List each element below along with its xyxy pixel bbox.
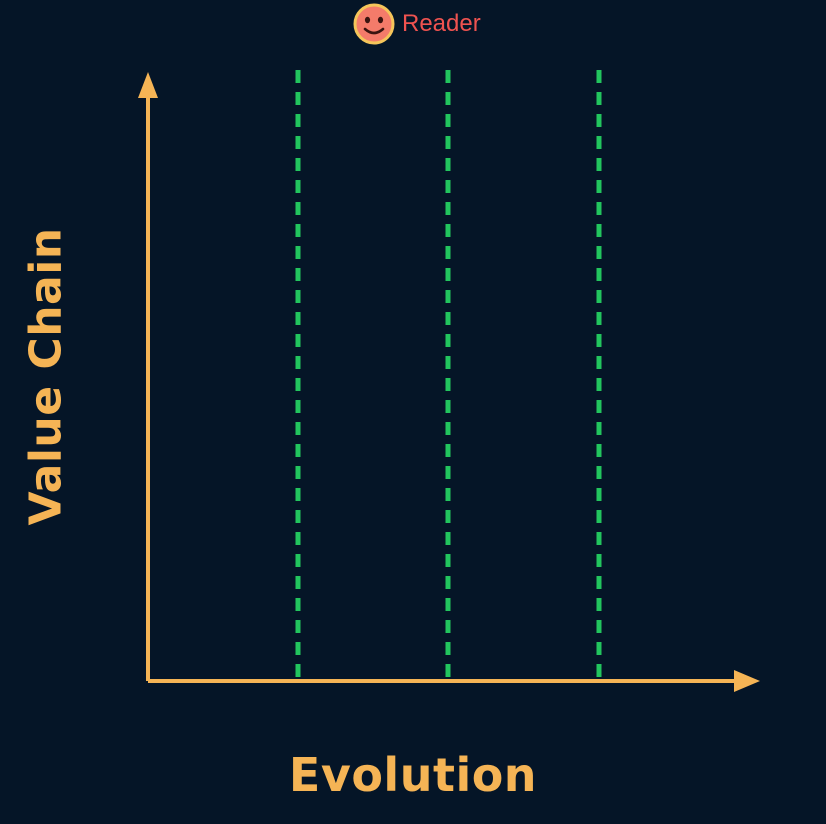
reader-anchor-label: Reader: [402, 10, 481, 38]
evolution-axis-title: Evolution: [0, 748, 826, 802]
smiley-face-icon: [352, 2, 396, 46]
value-chain-axis-title: Value Chain: [21, 286, 72, 526]
wardley-map-canvas: Reader Value Chain Evolution: [0, 0, 826, 824]
evolution-divider-group: [298, 70, 599, 680]
x-axis-arrowhead: [734, 670, 760, 692]
reader-anchor-icon-wrap[interactable]: [352, 2, 396, 46]
y-axis-arrowhead: [138, 72, 158, 98]
map-vector-layer: [0, 0, 826, 824]
